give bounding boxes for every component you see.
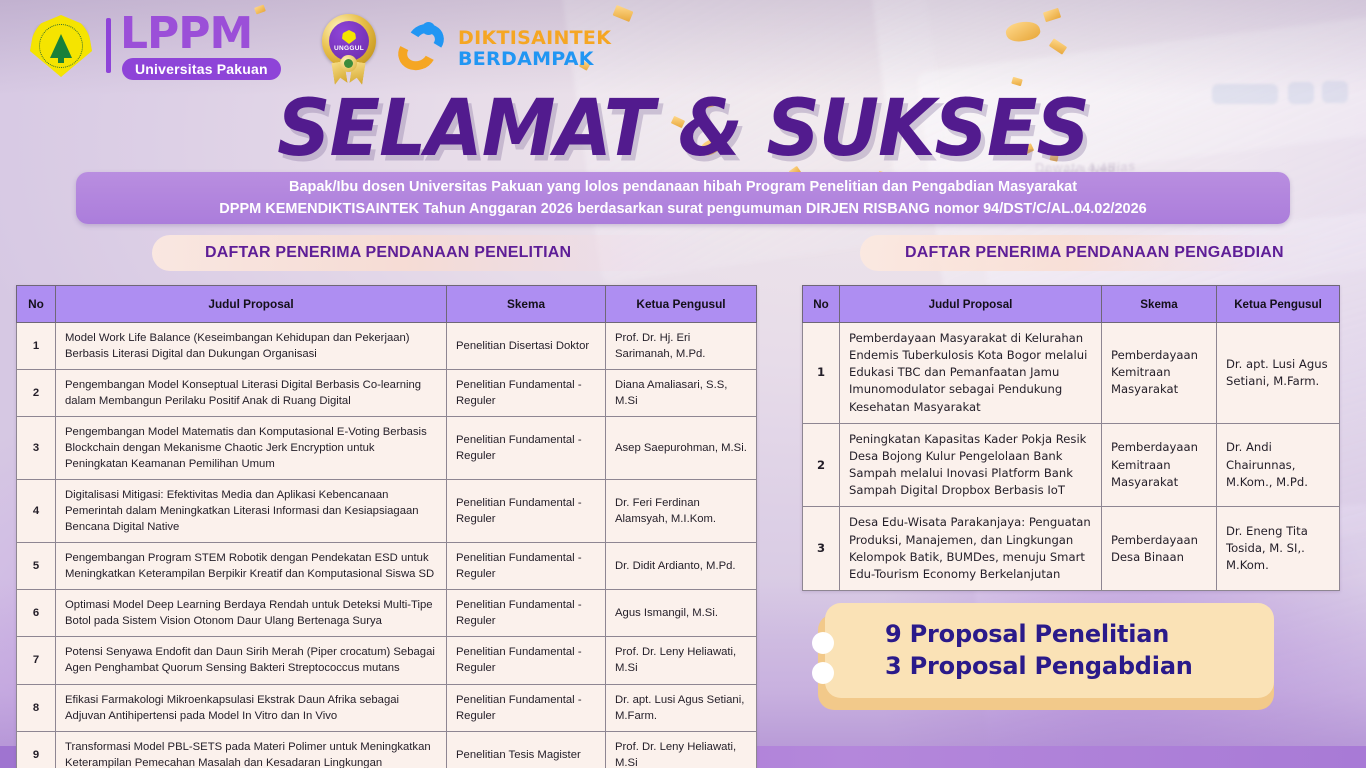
- cell-no: 1: [17, 323, 56, 370]
- cell-ketua-pengusul: Dr. Didit Ardianto, M.Pd.: [606, 543, 757, 590]
- summary-card: 9 Proposal Penelitian 3 Proposal Pengabd…: [804, 600, 1274, 710]
- cell-ketua-pengusul: Prof. Dr. Leny Heliawati, M.Si: [606, 637, 757, 684]
- column-header-judul: Judul Proposal: [56, 286, 447, 323]
- announcement-banner: Bapak/Ibu dosen Universitas Pakuan yang …: [76, 172, 1290, 224]
- cell-ketua-pengusul: Dr. Eneng Tita Tosida, M. SI,. M.Kom.: [1217, 507, 1340, 591]
- cell-skema: Penelitian Fundamental - Reguler: [447, 417, 606, 480]
- cell-skema: Pemberdayaan Desa Binaan: [1102, 507, 1217, 591]
- cell-skema: Pemberdayaan Kemitraan Masyarakat: [1102, 323, 1217, 424]
- cell-judul-proposal: Pengembangan Model Matematis dan Komputa…: [56, 417, 447, 480]
- table-header-row: No Judul Proposal Skema Ketua Pengusul: [17, 286, 757, 323]
- cell-no: 1: [803, 323, 840, 424]
- cell-ketua-pengusul: Dr. Feri Ferdinan Alamsyah, M.I.Kom.: [606, 480, 757, 543]
- table-header-row: No Judul Proposal Skema Ketua Pengusul: [803, 286, 1340, 323]
- cell-judul-proposal: Desa Edu-Wisata Parakanjaya: Penguatan P…: [840, 507, 1102, 591]
- cell-no: 5: [17, 543, 56, 590]
- university-name-pill: Universitas Pakuan: [122, 58, 281, 80]
- cell-skema: Penelitian Fundamental - Reguler: [447, 637, 606, 684]
- cell-no: 3: [17, 417, 56, 480]
- table-pengabdian: No Judul Proposal Skema Ketua Pengusul 1…: [802, 285, 1340, 591]
- cell-skema: Pemberdayaan Kemitraan Masyarakat: [1102, 423, 1217, 507]
- announcement-line-1: Bapak/Ibu dosen Universitas Pakuan yang …: [289, 176, 1077, 198]
- cell-judul-proposal: Pengembangan Model Konseptual Literasi D…: [56, 370, 447, 417]
- cell-ketua-pengusul: Diana Amaliasari, S.S, M.Si: [606, 370, 757, 417]
- cell-judul-proposal: Pemberdayaan Masyarakat di Kelurahan End…: [840, 323, 1102, 424]
- table-row: 8Efikasi Farmakologi Mikroenkapsulasi Ek…: [17, 684, 757, 731]
- table-penelitian: No Judul Proposal Skema Ketua Pengusul 1…: [16, 285, 757, 768]
- unggul-medal-icon: UNGGUL: [318, 12, 380, 84]
- unggul-medal-label: UNGGUL: [334, 45, 364, 52]
- section-title-pengabdian: DAFTAR PENERIMA PENDANAAN PENGABDIAN: [905, 244, 1284, 262]
- cell-no: 7: [17, 637, 56, 684]
- cell-judul-proposal: Digitalisasi Mitigasi: Efektivitas Media…: [56, 480, 447, 543]
- cell-judul-proposal: Efikasi Farmakologi Mikroenkapsulasi Eks…: [56, 684, 447, 731]
- diktisaintek-wordmark-line1: DIKTISAINTEK: [458, 27, 611, 49]
- bullet-dot-icon: [812, 632, 834, 654]
- cell-no: 6: [17, 590, 56, 637]
- table-row: 7Potensi Senyawa Endofit dan Daun Sirih …: [17, 637, 757, 684]
- announcement-line-2: DPPM KEMENDIKTISAINTEK Tahun Anggaran 20…: [219, 198, 1146, 220]
- table-row: 6Optimasi Model Deep Learning Berdaya Re…: [17, 590, 757, 637]
- table-row: 4Digitalisasi Mitigasi: Efektivitas Medi…: [17, 480, 757, 543]
- cell-no: 2: [17, 370, 56, 417]
- cell-judul-proposal: Model Work Life Balance (Keseimbangan Ke…: [56, 323, 447, 370]
- section-header-penelitian: DAFTAR PENERIMA PENDANAAN PENELITIAN: [152, 235, 712, 271]
- table-row: 9Transformasi Model PBL-SETS pada Materi…: [17, 731, 757, 768]
- cell-skema: Penelitian Fundamental - Reguler: [447, 590, 606, 637]
- column-header-ketua: Ketua Pengusul: [1217, 286, 1340, 323]
- summary-line-pengabdian: 3 Proposal Pengabdian: [885, 651, 1274, 683]
- column-header-no: No: [803, 286, 840, 323]
- column-header-skema: Skema: [447, 286, 606, 323]
- cell-ketua-pengusul: Prof. Dr. Hj. Eri Sarimanah, M.Pd.: [606, 323, 757, 370]
- cell-skema: Penelitian Tesis Magister: [447, 731, 606, 768]
- cell-skema: Penelitian Fundamental - Reguler: [447, 684, 606, 731]
- section-header-pengabdian: DAFTAR PENERIMA PENDANAAN PENGABDIAN: [860, 235, 1320, 271]
- summary-line-penelitian: 9 Proposal Penelitian: [885, 619, 1274, 651]
- cell-ketua-pengusul: Prof. Dr. Leny Heliawati, M.Si: [606, 731, 757, 768]
- table-row: 3Desa Edu-Wisata Parakanjaya: Penguatan …: [803, 507, 1340, 591]
- diktisaintek-wordmark-line2: BERDAMPAK: [458, 48, 594, 70]
- bullet-dot-icon: [812, 662, 834, 684]
- column-header-ketua: Ketua Pengusul: [606, 286, 757, 323]
- cell-ketua-pengusul: Dr. apt. Lusi Agus Setiani, M.Farm.: [1217, 323, 1340, 424]
- column-header-no: No: [17, 286, 56, 323]
- page-title: SELAMAT & SUKSES: [0, 82, 1366, 174]
- table-row: 3Pengembangan Model Matematis dan Komput…: [17, 417, 757, 480]
- section-title-penelitian: DAFTAR PENERIMA PENDANAAN PENELITIAN: [205, 244, 571, 262]
- table-row: 1Pemberdayaan Masyarakat di Kelurahan En…: [803, 323, 1340, 424]
- cell-skema: Penelitian Fundamental - Reguler: [447, 370, 606, 417]
- cell-judul-proposal: Potensi Senyawa Endofit dan Daun Sirih M…: [56, 637, 447, 684]
- cell-judul-proposal: Optimasi Model Deep Learning Berdaya Ren…: [56, 590, 447, 637]
- table-row: 5Pengembangan Program STEM Robotik denga…: [17, 543, 757, 590]
- cell-no: 3: [803, 507, 840, 591]
- cell-judul-proposal: Peningkatan Kapasitas Kader Pokja Resik …: [840, 423, 1102, 507]
- cell-ketua-pengusul: Dr. apt. Lusi Agus Setiani, M.Farm.: [606, 684, 757, 731]
- cell-judul-proposal: Transformasi Model PBL-SETS pada Materi …: [56, 731, 447, 768]
- diktisaintek-swoosh-icon: [396, 22, 450, 72]
- header-logo-bar: LPPM Universitas Pakuan UNGGUL DIKTISAIN…: [0, 0, 1366, 92]
- table-row: 2Pengembangan Model Konseptual Literasi …: [17, 370, 757, 417]
- pakuan-university-seal-icon: [30, 15, 92, 77]
- cell-no: 2: [803, 423, 840, 507]
- cell-skema: Penelitian Disertasi Doktor: [447, 323, 606, 370]
- summary-card-body: 9 Proposal Penelitian 3 Proposal Pengabd…: [825, 603, 1274, 698]
- table-row: 2Peningkatan Kapasitas Kader Pokja Resik…: [803, 423, 1340, 507]
- logo-divider: [106, 18, 111, 73]
- cell-ketua-pengusul: Dr. Andi Chairunnas, M.Kom., M.Pd.: [1217, 423, 1340, 507]
- column-header-judul: Judul Proposal: [840, 286, 1102, 323]
- cell-no: 8: [17, 684, 56, 731]
- cell-judul-proposal: Pengembangan Program STEM Robotik dengan…: [56, 543, 447, 590]
- cell-ketua-pengusul: Asep Saepurohman, M.Si.: [606, 417, 757, 480]
- cell-no: 9: [17, 731, 56, 768]
- table-row: 1Model Work Life Balance (Keseimbangan K…: [17, 323, 757, 370]
- cell-skema: Penelitian Fundamental - Reguler: [447, 480, 606, 543]
- cell-no: 4: [17, 480, 56, 543]
- cell-skema: Penelitian Fundamental - Reguler: [447, 543, 606, 590]
- cell-ketua-pengusul: Agus Ismangil, M.Si.: [606, 590, 757, 637]
- column-header-skema: Skema: [1102, 286, 1217, 323]
- lppm-wordmark: LPPM: [120, 12, 252, 56]
